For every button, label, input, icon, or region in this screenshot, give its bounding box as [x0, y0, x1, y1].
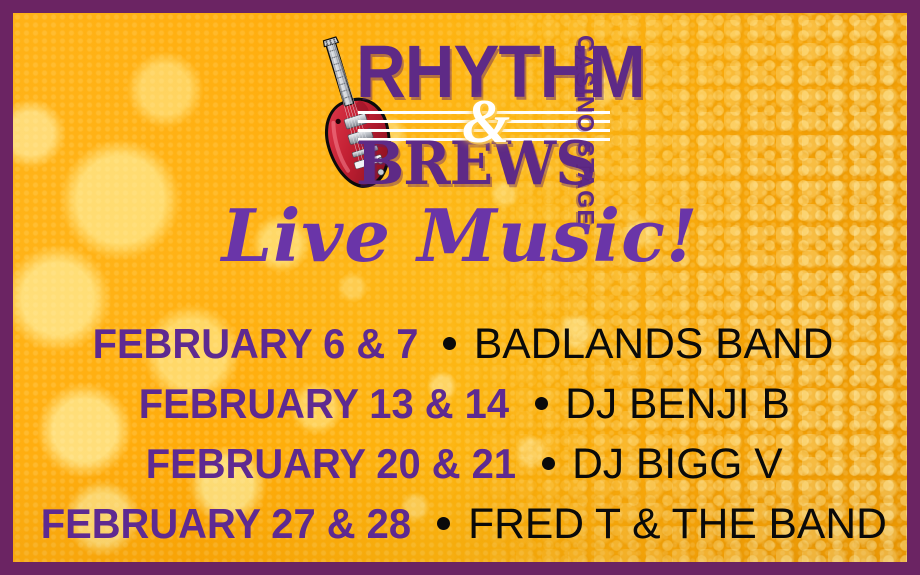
event-row: FEBRUARY 27 & 28 FRED T & THE BAND	[31, 501, 889, 561]
event-date: FEBRUARY 6 & 7	[93, 321, 419, 367]
logo-ampersand: &	[462, 91, 510, 153]
event-artist: FRED T & THE BAND	[468, 501, 887, 547]
event-artist: BADLANDS BAND	[474, 321, 834, 367]
event-date: FEBRUARY 27 & 28	[41, 501, 411, 547]
bullet-separator-icon	[443, 337, 456, 350]
bullet-separator-icon	[542, 457, 555, 470]
bullet-separator-icon	[535, 397, 548, 410]
event-artist: DJ BIGG V	[572, 441, 783, 487]
bullet-separator-icon	[437, 517, 450, 530]
promo-poster: RHYTHM & BREWS CASINO STAGE Live Music! …	[0, 0, 920, 575]
event-date: FEBRUARY 13 & 14	[139, 381, 509, 427]
logo-wordmark: RHYTHM & BREWS CASINO STAGE	[356, 29, 628, 204]
rhythm-and-brews-logo: RHYTHM & BREWS CASINO STAGE	[318, 29, 628, 204]
event-row: FEBRUARY 20 & 21 DJ BIGG V	[136, 441, 783, 501]
live-music-tagline: Live Music!	[13, 196, 907, 276]
event-artist: DJ BENJI B	[565, 381, 790, 427]
event-schedule-list: FEBRUARY 6 & 7 BADLANDS BAND FEBRUARY 13…	[13, 321, 907, 561]
logo-casino-stage-text: CASINO STAGE	[573, 35, 599, 199]
event-date: FEBRUARY 20 & 21	[146, 441, 516, 487]
event-row: FEBRUARY 13 & 14 DJ BENJI B	[129, 381, 791, 441]
event-row: FEBRUARY 6 & 7 BADLANDS BAND	[84, 321, 835, 381]
